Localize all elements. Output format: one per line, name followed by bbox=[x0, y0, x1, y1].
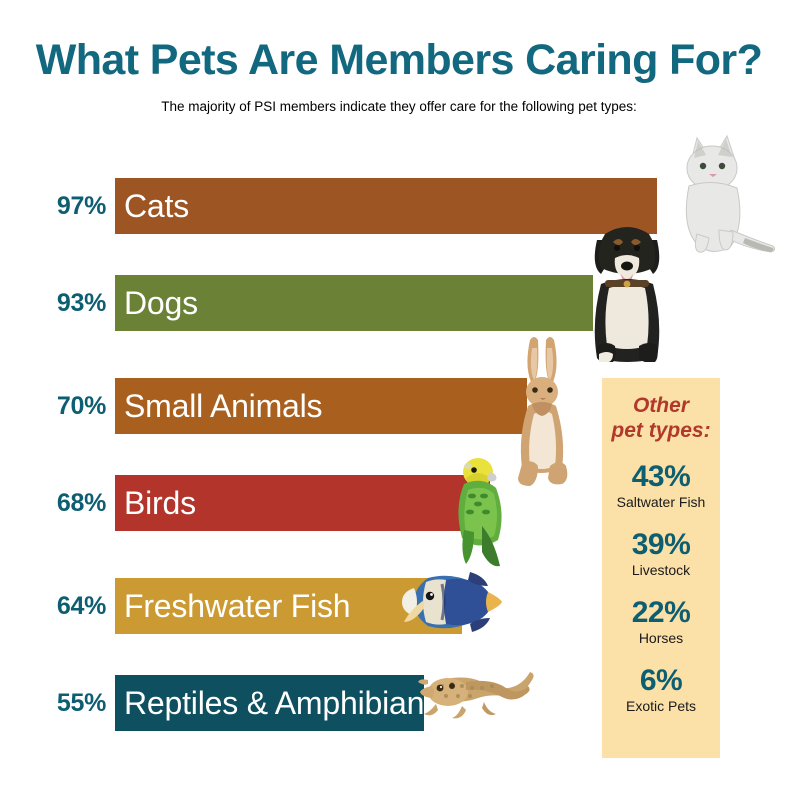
bar-category-label: Dogs bbox=[115, 285, 198, 322]
bar-category-label: Cats bbox=[115, 188, 189, 225]
bar-category-label: Reptiles & Amphibians bbox=[115, 685, 440, 722]
rabbit-photo bbox=[508, 336, 578, 492]
panel-item-label: Exotic Pets bbox=[602, 697, 720, 715]
chart-bar: Small Animals bbox=[115, 378, 527, 434]
other-pet-types-panel: Other pet types: 43%Saltwater Fish39%Liv… bbox=[602, 378, 720, 758]
panel-title-line1: Other bbox=[602, 393, 720, 418]
panel-item-label: Saltwater Fish bbox=[602, 493, 720, 511]
dog-photo bbox=[583, 214, 671, 362]
chart-row: 93%Dogs bbox=[0, 275, 798, 331]
chart-bar: Reptiles & Amphibians bbox=[115, 675, 424, 731]
panel-item: 39%Livestock bbox=[602, 529, 720, 579]
chart-bar: Dogs bbox=[115, 275, 593, 331]
lizard-photo bbox=[418, 662, 554, 724]
panel-title: Other pet types: bbox=[602, 393, 720, 443]
bar-percent-label: 68% bbox=[34, 475, 106, 531]
bar-percent-label: 93% bbox=[34, 275, 106, 331]
panel-item-value: 39% bbox=[602, 529, 720, 561]
panel-item-value: 22% bbox=[602, 597, 720, 629]
panel-item: 22%Horses bbox=[602, 597, 720, 647]
bar-category-label: Birds bbox=[115, 485, 196, 522]
chart-bar: Birds bbox=[115, 475, 490, 531]
panel-title-line2: pet types: bbox=[602, 418, 720, 443]
panel-item-value: 6% bbox=[602, 665, 720, 697]
bar-percent-label: 70% bbox=[34, 378, 106, 434]
panel-item: 6%Exotic Pets bbox=[602, 665, 720, 715]
infographic-page: What Pets Are Members Caring For? The ma… bbox=[0, 0, 798, 789]
bar-percent-label: 97% bbox=[34, 178, 106, 234]
fish-photo bbox=[400, 570, 504, 634]
panel-item-label: Horses bbox=[602, 629, 720, 647]
panel-item-label: Livestock bbox=[602, 561, 720, 579]
bar-percent-label: 64% bbox=[34, 578, 106, 634]
panel-item-list: 43%Saltwater Fish39%Livestock22%Horses6%… bbox=[602, 461, 720, 715]
bird-photo bbox=[452, 452, 512, 572]
chart-bar: Cats bbox=[115, 178, 657, 234]
panel-item: 43%Saltwater Fish bbox=[602, 461, 720, 511]
panel-item-value: 43% bbox=[602, 461, 720, 493]
bar-percent-label: 55% bbox=[34, 675, 106, 731]
bar-category-label: Freshwater Fish bbox=[115, 588, 350, 625]
bar-category-label: Small Animals bbox=[115, 388, 322, 425]
